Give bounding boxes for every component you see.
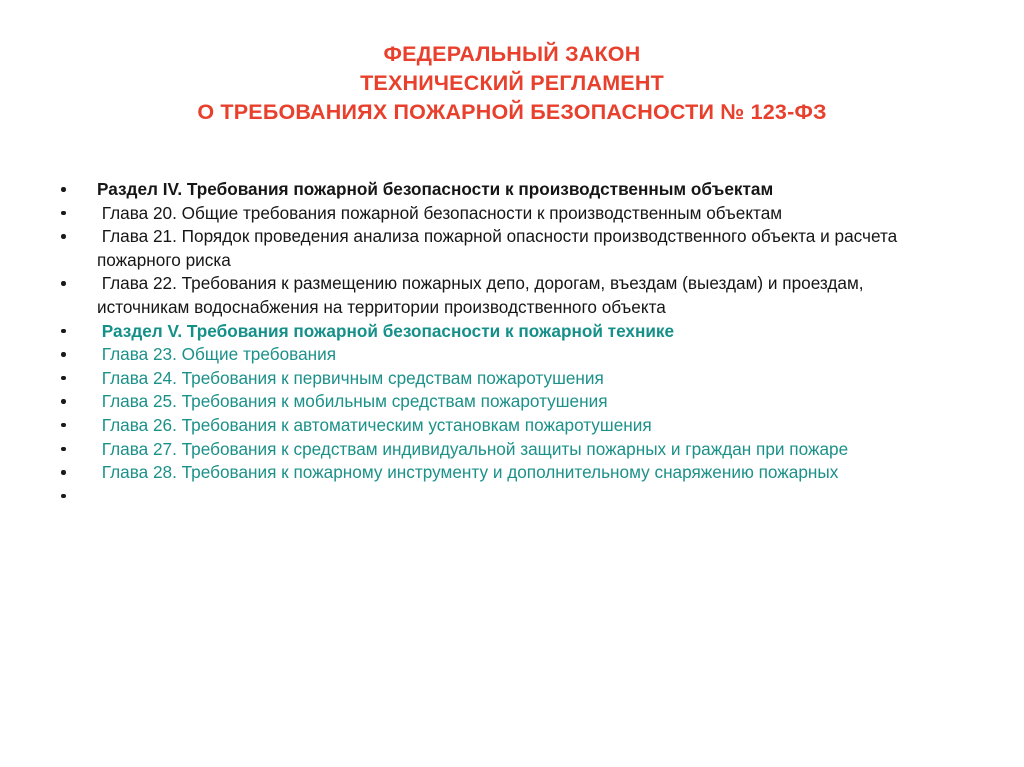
bullet-dot-icon bbox=[61, 399, 66, 404]
list-item-label: Глава 22. Требования к размещению пожарн… bbox=[97, 272, 946, 319]
list-item: Глава 28. Требования к пожарному инструм… bbox=[56, 461, 946, 485]
list-item: Глава 21. Порядок проведения анализа пож… bbox=[56, 225, 946, 272]
list-item-label: Глава 26. Требования к автоматическим ус… bbox=[97, 414, 946, 438]
bullet-list: Раздел IV. Требования пожарной безопасно… bbox=[56, 178, 946, 507]
list-item-label: Глава 28. Требования к пожарному инструм… bbox=[97, 461, 946, 485]
list-item bbox=[56, 485, 946, 507]
list-item: Глава 22. Требования к размещению пожарн… bbox=[56, 272, 946, 319]
bullet-dot-icon bbox=[61, 234, 66, 239]
list-item-label: Глава 25. Требования к мобильным средств… bbox=[97, 390, 946, 414]
list-item: Глава 25. Требования к мобильным средств… bbox=[56, 390, 946, 414]
slide-title: ФЕДЕРАЛЬНЫЙ ЗАКОН ТЕХНИЧЕСКИЙ РЕГЛАМЕНТ … bbox=[62, 40, 962, 127]
list-item-label: Глава 23. Общие требования bbox=[97, 343, 946, 367]
title-line-3: О ТРЕБОВАНИЯХ ПОЖАРНОЙ БЕЗОПАСНОСТИ № 12… bbox=[62, 98, 962, 127]
list-item: Глава 26. Требования к автоматическим ус… bbox=[56, 414, 946, 438]
bullet-dot-icon bbox=[61, 376, 66, 381]
list-item: Раздел IV. Требования пожарной безопасно… bbox=[56, 178, 946, 202]
list-item-label: Глава 20. Общие требования пожарной безо… bbox=[97, 202, 946, 226]
bullet-dot-icon bbox=[61, 281, 66, 286]
bullet-dot-icon bbox=[61, 470, 66, 475]
list-item: Глава 27. Требования к средствам индивид… bbox=[56, 438, 946, 462]
list-item-label: Глава 24. Требования к первичным средств… bbox=[97, 367, 946, 391]
list-item: Глава 23. Общие требования bbox=[56, 343, 946, 367]
title-line-1: ФЕДЕРАЛЬНЫЙ ЗАКОН bbox=[62, 40, 962, 69]
bullet-dot-icon bbox=[61, 329, 66, 334]
title-line-2: ТЕХНИЧЕСКИЙ РЕГЛАМЕНТ bbox=[62, 69, 962, 98]
bullet-dot-icon bbox=[61, 494, 66, 499]
list-item: Глава 20. Общие требования пожарной безо… bbox=[56, 202, 946, 226]
bullet-dot-icon bbox=[61, 352, 66, 357]
bullet-dot-icon bbox=[61, 423, 66, 428]
list-item: Раздел V. Требования пожарной безопаснос… bbox=[56, 320, 946, 344]
slide-canvas: ФЕДЕРАЛЬНЫЙ ЗАКОН ТЕХНИЧЕСКИЙ РЕГЛАМЕНТ … bbox=[0, 0, 1024, 767]
bullet-dot-icon bbox=[61, 447, 66, 452]
bullet-dot-icon bbox=[61, 187, 66, 192]
slide-body: Раздел IV. Требования пожарной безопасно… bbox=[56, 178, 946, 507]
list-item-label: Глава 27. Требования к средствам индивид… bbox=[97, 438, 946, 462]
list-item: Глава 24. Требования к первичным средств… bbox=[56, 367, 946, 391]
list-item-label: Раздел IV. Требования пожарной безопасно… bbox=[97, 178, 946, 202]
list-item-label: Глава 21. Порядок проведения анализа пож… bbox=[97, 225, 946, 272]
list-item-label: Раздел V. Требования пожарной безопаснос… bbox=[97, 320, 946, 344]
bullet-dot-icon bbox=[61, 211, 66, 216]
